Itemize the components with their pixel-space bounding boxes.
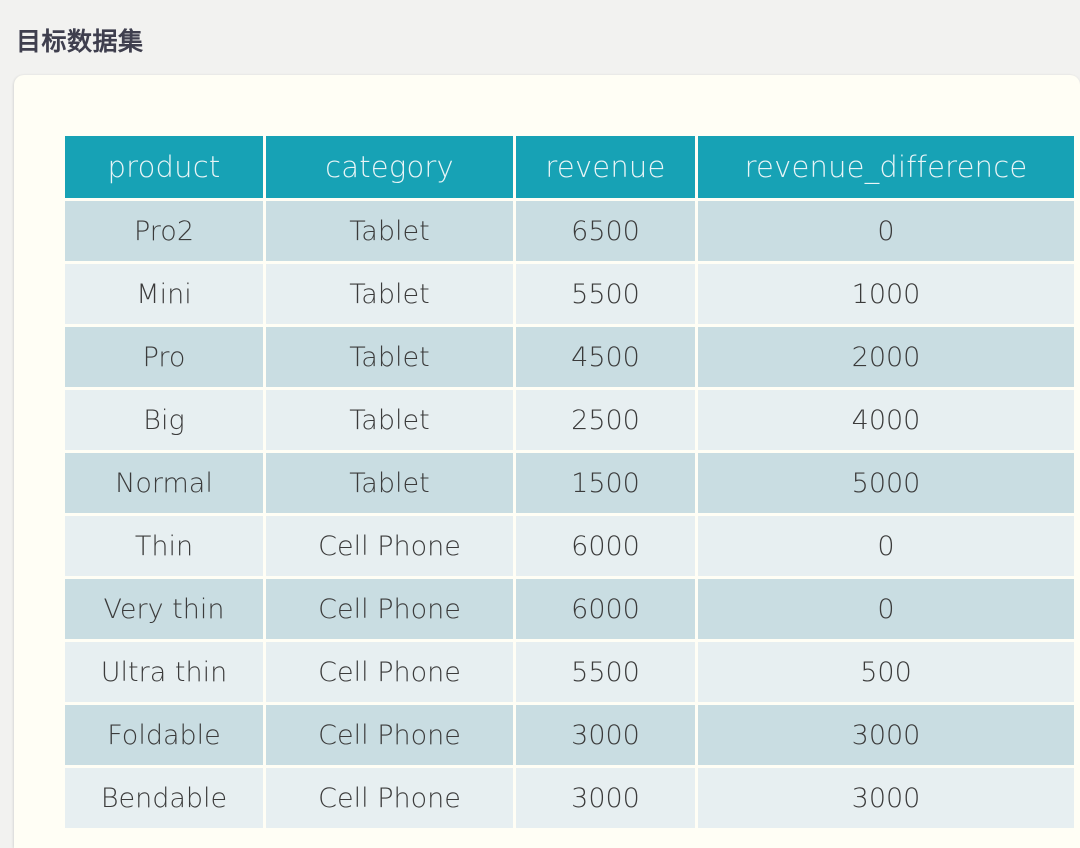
cell-product: Mini [65, 264, 263, 324]
cell-revenue: 3000 [516, 768, 695, 828]
cell-revenue: 6000 [516, 516, 695, 576]
cell-product: Pro2 [65, 201, 263, 261]
cell-product: Thin [65, 516, 263, 576]
page-root: 目标数据集 product category revenue revenue_d… [0, 0, 1080, 848]
cell-revenue_difference: 0 [698, 201, 1074, 261]
cell-revenue_difference: 3000 [698, 705, 1074, 765]
cell-category: Cell Phone [266, 768, 513, 828]
column-header-product[interactable]: product [65, 136, 263, 198]
column-header-category[interactable]: category [266, 136, 513, 198]
table-row[interactable]: Ultra thinCell Phone5500500 [65, 642, 1074, 702]
cell-product: Bendable [65, 768, 263, 828]
cell-category: Cell Phone [266, 642, 513, 702]
cell-product: Big [65, 390, 263, 450]
page-title: 目标数据集 [16, 25, 144, 59]
table-body: Pro2Tablet65000MiniTablet55001000ProTabl… [65, 201, 1074, 828]
cell-category: Cell Phone [266, 579, 513, 639]
cell-revenue: 3000 [516, 705, 695, 765]
table-row[interactable]: NormalTablet15005000 [65, 453, 1074, 513]
cell-category: Tablet [266, 390, 513, 450]
cell-revenue_difference: 3000 [698, 768, 1074, 828]
cell-revenue: 2500 [516, 390, 695, 450]
cell-product: Foldable [65, 705, 263, 765]
cell-revenue: 6000 [516, 579, 695, 639]
table-header: product category revenue revenue_differe… [65, 136, 1074, 198]
cell-revenue: 5500 [516, 642, 695, 702]
table-row[interactable]: FoldableCell Phone30003000 [65, 705, 1074, 765]
cell-revenue_difference: 1000 [698, 264, 1074, 324]
cell-revenue_difference: 500 [698, 642, 1074, 702]
cell-revenue: 4500 [516, 327, 695, 387]
cell-revenue_difference: 0 [698, 516, 1074, 576]
table-row[interactable]: Pro2Tablet65000 [65, 201, 1074, 261]
cell-product: Normal [65, 453, 263, 513]
dataset-table: product category revenue revenue_differe… [62, 133, 1077, 831]
dataset-table-container: product category revenue revenue_differe… [62, 133, 1068, 831]
table-row[interactable]: BendableCell Phone30003000 [65, 768, 1074, 828]
cell-revenue_difference: 0 [698, 579, 1074, 639]
dataset-card: product category revenue revenue_differe… [14, 75, 1080, 848]
table-row[interactable]: MiniTablet55001000 [65, 264, 1074, 324]
cell-revenue: 1500 [516, 453, 695, 513]
table-row[interactable]: Very thinCell Phone60000 [65, 579, 1074, 639]
cell-category: Cell Phone [266, 705, 513, 765]
cell-product: Ultra thin [65, 642, 263, 702]
cell-category: Tablet [266, 264, 513, 324]
cell-product: Very thin [65, 579, 263, 639]
cell-product: Pro [65, 327, 263, 387]
table-row[interactable]: BigTablet25004000 [65, 390, 1074, 450]
cell-category: Tablet [266, 327, 513, 387]
cell-revenue: 6500 [516, 201, 695, 261]
cell-category: Tablet [266, 453, 513, 513]
table-row[interactable]: ThinCell Phone60000 [65, 516, 1074, 576]
cell-revenue_difference: 5000 [698, 453, 1074, 513]
table-header-row: product category revenue revenue_differe… [65, 136, 1074, 198]
cell-category: Cell Phone [266, 516, 513, 576]
column-header-revenue-difference[interactable]: revenue_difference [698, 136, 1074, 198]
table-row[interactable]: ProTablet45002000 [65, 327, 1074, 387]
cell-revenue_difference: 4000 [698, 390, 1074, 450]
cell-revenue: 5500 [516, 264, 695, 324]
column-header-revenue[interactable]: revenue [516, 136, 695, 198]
cell-category: Tablet [266, 201, 513, 261]
cell-revenue_difference: 2000 [698, 327, 1074, 387]
